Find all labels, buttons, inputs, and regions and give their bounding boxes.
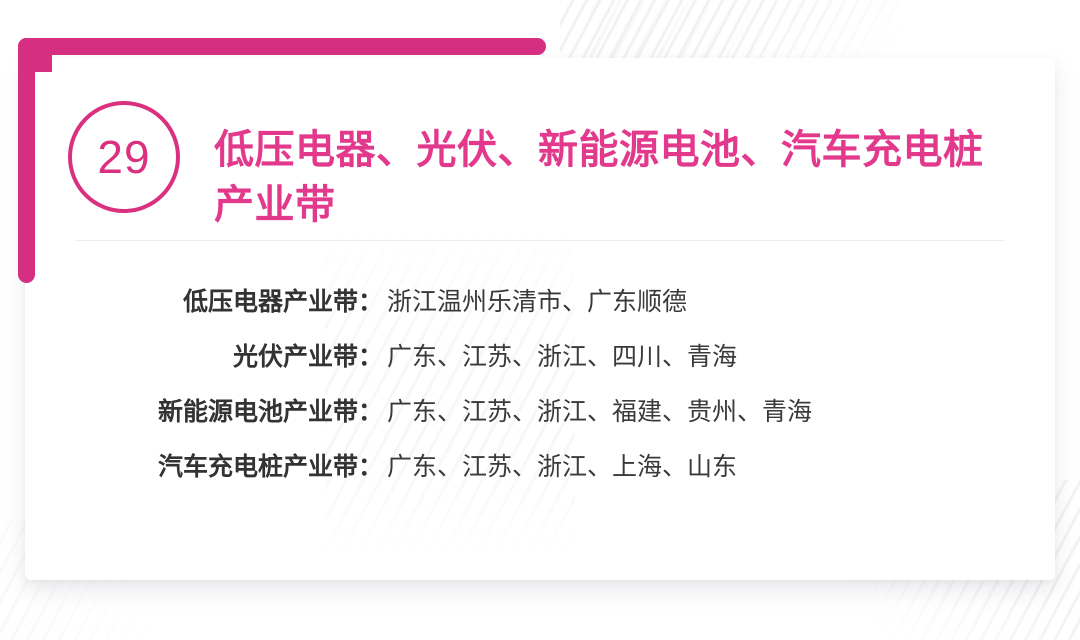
list-item: 光伏产业带 ： 广东、江苏、浙江、四川、青海 <box>60 337 990 392</box>
row-value: 浙江温州乐清市、广东顺德 <box>387 282 990 318</box>
pink-frame-corner <box>18 38 52 72</box>
industry-belt-list: 低压电器产业带 ： 浙江温州乐清市、广东顺德 光伏产业带 ： 广东、江苏、浙江、… <box>60 282 990 502</box>
section-number-badge: 29 <box>68 101 180 213</box>
row-value: 广东、江苏、浙江、福建、贵州、青海 <box>387 392 990 428</box>
pink-frame-left-bar <box>18 38 35 283</box>
row-label: 新能源电池产业带 <box>60 392 358 428</box>
row-value: 广东、江苏、浙江、上海、山东 <box>387 447 990 483</box>
row-value: 广东、江苏、浙江、四川、青海 <box>387 337 990 373</box>
slide-canvas: 29 低压电器、光伏、新能源电池、汽车充电桩产业带 低压电器产业带 ： 浙江温州… <box>0 0 1080 640</box>
row-colon: ： <box>358 282 387 318</box>
page-title: 低压电器、光伏、新能源电池、汽车充电桩产业带 <box>214 123 984 233</box>
list-item: 汽车充电桩产业带 ： 广东、江苏、浙江、上海、山东 <box>60 447 990 502</box>
row-colon: ： <box>358 392 387 428</box>
list-item: 低压电器产业带 ： 浙江温州乐清市、广东顺德 <box>60 282 990 337</box>
row-label: 光伏产业带 <box>60 337 358 373</box>
row-colon: ： <box>358 337 387 373</box>
row-colon: ： <box>358 447 387 483</box>
row-label: 低压电器产业带 <box>60 282 358 318</box>
pink-frame-top-bar <box>18 38 546 55</box>
title-divider <box>75 240 1005 241</box>
list-item: 新能源电池产业带 ： 广东、江苏、浙江、福建、贵州、青海 <box>60 392 990 447</box>
section-number-value: 29 <box>97 134 150 180</box>
row-label: 汽车充电桩产业带 <box>60 447 358 483</box>
